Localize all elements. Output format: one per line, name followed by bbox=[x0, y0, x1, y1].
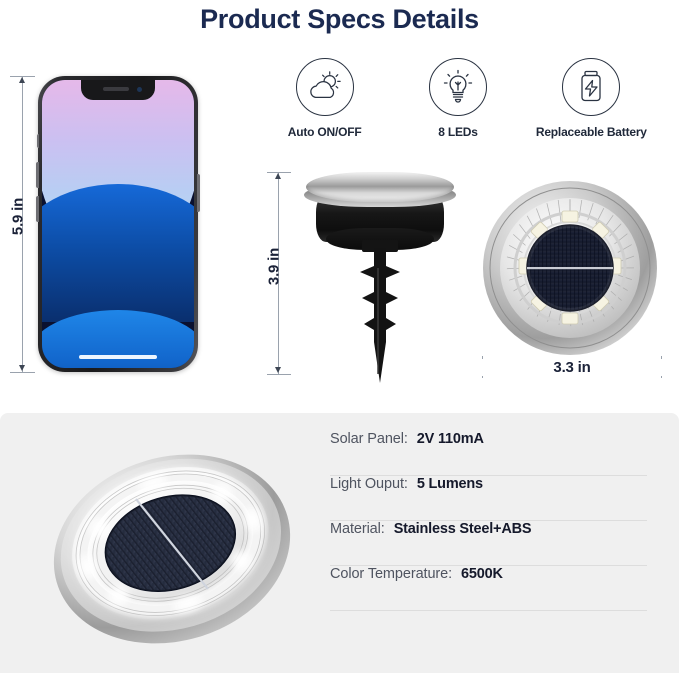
volume-down-button bbox=[36, 196, 39, 222]
spec-row: Material: Stainless Steel+ABS bbox=[330, 521, 647, 566]
arrow-down-icon bbox=[275, 367, 281, 373]
dimension-cap-bottom bbox=[10, 372, 35, 373]
arrow-up-icon bbox=[19, 77, 25, 83]
page-title: Product Specs Details bbox=[0, 4, 679, 35]
phone-screen bbox=[42, 80, 194, 368]
spec-value: 5 Lumens bbox=[417, 476, 483, 492]
product-hero-photo bbox=[30, 439, 300, 649]
silence-switch bbox=[37, 134, 40, 148]
ground-light-side-view bbox=[300, 170, 460, 385]
feature-label: 8 LEDs bbox=[438, 125, 477, 139]
power-button bbox=[197, 174, 200, 212]
spec-row: Color Temperature: 6500K bbox=[330, 566, 647, 611]
phone-notch bbox=[81, 80, 155, 100]
spec-value: Stainless Steel+ABS bbox=[394, 521, 532, 537]
wallpaper-bottom-arc bbox=[42, 310, 194, 368]
feature-label: Auto ON/OFF bbox=[288, 125, 362, 139]
ground-stake bbox=[344, 248, 416, 383]
feature-replaceable-battery: Replaceable Battery bbox=[525, 58, 658, 139]
phone-size-reference: 5.9 in bbox=[0, 60, 240, 390]
wallpaper-mid-arc bbox=[42, 184, 194, 322]
spec-label: Light Ouput: bbox=[330, 476, 408, 492]
spec-label: Material: bbox=[330, 521, 385, 537]
spec-label: Color Temperature: bbox=[330, 566, 452, 582]
feature-auto-on-off: Auto ON/OFF bbox=[258, 58, 391, 139]
light-side-view-block: 3.9 in bbox=[258, 160, 463, 390]
home-indicator bbox=[79, 355, 157, 359]
spec-value: 2V 110mA bbox=[417, 431, 484, 447]
arrow-up-icon bbox=[275, 173, 281, 179]
spec-row: Solar Panel: 2V 110mA bbox=[330, 431, 647, 476]
volume-up-button bbox=[36, 162, 39, 188]
feature-label: Replaceable Battery bbox=[536, 125, 647, 139]
feature-icon-row: Auto ON/OFF 8 LEDs bbox=[258, 58, 658, 139]
lightbulb-icon bbox=[429, 58, 487, 116]
dimension-cap-bottom bbox=[267, 374, 291, 375]
specs-panel: Solar Panel: 2V 110mA Light Ouput: 5 Lum… bbox=[0, 413, 679, 673]
ground-light-top-view bbox=[482, 180, 658, 356]
arrow-down-icon bbox=[19, 365, 25, 371]
earpiece-speaker bbox=[103, 87, 129, 91]
spec-label: Solar Panel: bbox=[330, 431, 408, 447]
spec-row: Light Ouput: 5 Lumens bbox=[330, 476, 647, 521]
sun-cloud-icon bbox=[296, 58, 354, 116]
phone-height-label: 5.9 in bbox=[10, 187, 27, 247]
battery-bolt-icon bbox=[562, 58, 620, 116]
feature-8-leds: 8 LEDs bbox=[391, 58, 524, 139]
front-camera bbox=[137, 87, 142, 92]
disc-width-dimension: 3.3 in bbox=[478, 360, 666, 386]
specs-list: Solar Panel: 2V 110mA Light Ouput: 5 Lum… bbox=[330, 431, 647, 611]
spec-value: 6500K bbox=[461, 566, 503, 582]
smartphone-illustration bbox=[38, 76, 198, 372]
steel-top-cap bbox=[306, 172, 454, 202]
disc-width-label: 3.3 in bbox=[478, 359, 666, 376]
light-height-label: 3.9 in bbox=[266, 237, 283, 297]
light-top-view-block: 3.3 in bbox=[470, 180, 675, 385]
